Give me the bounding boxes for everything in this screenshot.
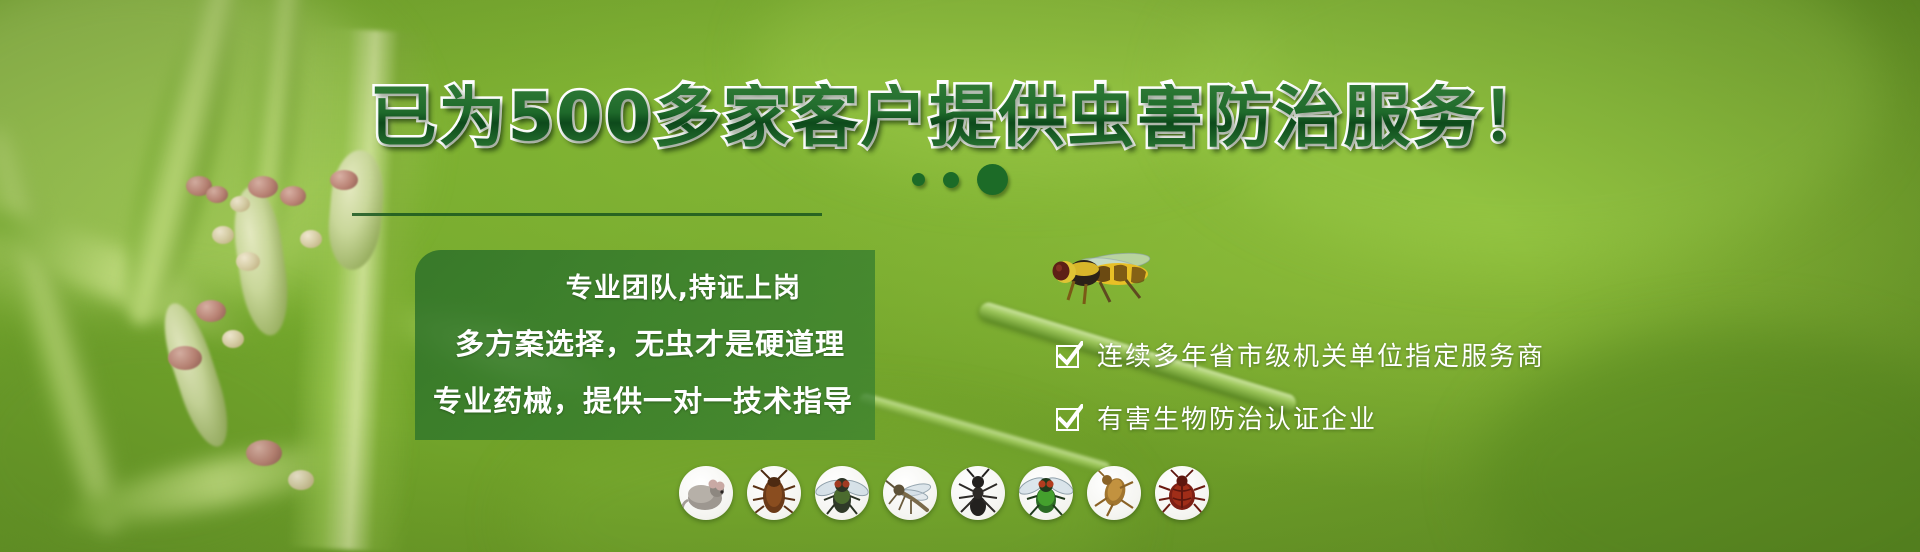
decorative-dots — [0, 164, 1920, 195]
fly-icon[interactable] — [815, 466, 869, 520]
cockroach-icon[interactable] — [747, 466, 801, 520]
checkbox-checked-icon — [1055, 341, 1083, 369]
check-item: 有害生物防治认证企业 — [1055, 399, 1545, 436]
certification-checklist: 连续多年省市级机关单位指定服务商 有害生物防治认证企业 — [1055, 336, 1545, 436]
checkbox-checked-icon — [1055, 404, 1083, 432]
slogan-box: 专业团队,持证上岗 多方案选择，无虫才是硬道理 专业药械，提供一对一技术指导 — [415, 250, 875, 440]
bedbug-icon[interactable] — [1155, 466, 1209, 520]
slogan-line-2: 多方案选择，无虫才是硬道理 — [415, 321, 857, 363]
slogan-line-1: 专业团队,持证上岗 — [415, 266, 857, 305]
divider-line — [352, 213, 822, 216]
slogan-line-3: 专业药械，提供一对一技术指导 — [415, 378, 857, 420]
page-title: 已为500多家客户提供虫害防治服务！ — [0, 84, 1920, 151]
mosquito-icon[interactable] — [883, 466, 937, 520]
blowfly-icon[interactable] — [1019, 466, 1073, 520]
dot-medium-icon — [943, 172, 959, 188]
mouse-icon[interactable] — [679, 466, 733, 520]
promo-banner: 已为500多家客户提供虫害防治服务！ 已为500多家客户提供虫害防治服务！ 专业… — [0, 0, 1920, 552]
ant-icon[interactable] — [951, 466, 1005, 520]
pest-icon-row — [679, 466, 1209, 520]
check-item-label: 连续多年省市级机关单位指定服务商 — [1097, 336, 1545, 373]
flea-icon[interactable] — [1087, 466, 1141, 520]
dot-large-icon — [977, 164, 1008, 195]
dot-small-icon — [912, 173, 925, 186]
check-item: 连续多年省市级机关单位指定服务商 — [1055, 336, 1545, 373]
check-item-label: 有害生物防治认证企业 — [1097, 399, 1377, 436]
